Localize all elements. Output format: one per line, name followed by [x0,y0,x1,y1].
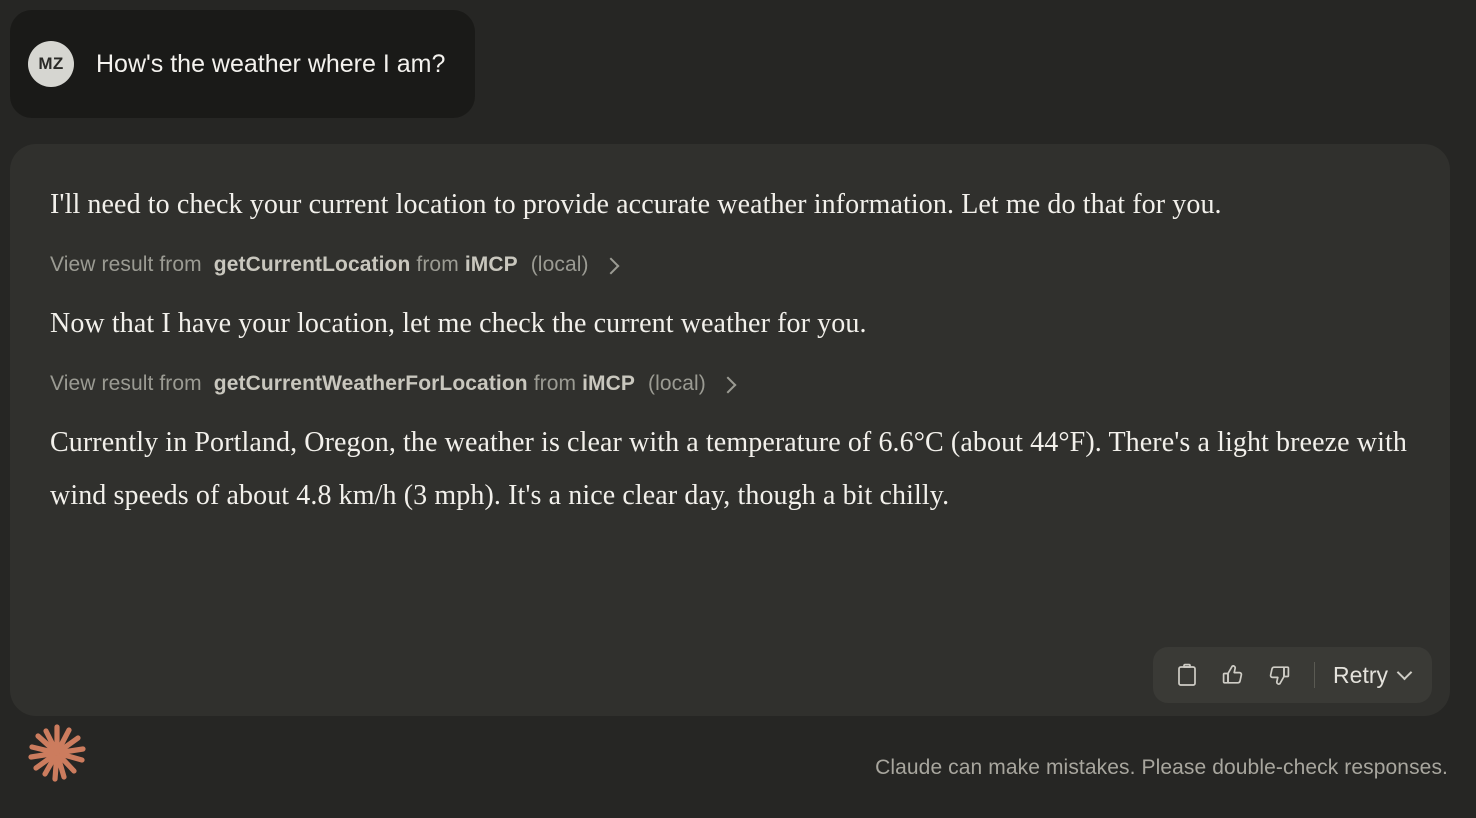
chevron-right-icon[interactable] [602,258,619,275]
tool-from-label: from [534,372,576,396]
tool-scope-label: (local) [648,372,706,396]
message-action-toolbar: Retry [1153,647,1432,703]
assistant-message-body: I'll need to check your current location… [10,144,1450,522]
chevron-right-icon[interactable] [719,377,736,394]
tool-scope-label: (local) [531,253,589,277]
clipboard-icon [1176,663,1198,687]
assistant-paragraph-3: Currently in Portland, Oregon, the weath… [50,416,1410,522]
copy-button[interactable] [1166,654,1208,696]
tool-result-lead-label: View result from [50,372,202,396]
user-message-row: MZ How's the weather where I am? [10,10,475,118]
disclaimer-text: Claude can make mistakes. Please double-… [875,756,1448,780]
toolbar-divider [1314,662,1315,688]
chevron-down-icon[interactable] [1397,664,1413,680]
thumbs-down-icon [1267,663,1291,687]
tool-server-label: iMCP [582,372,635,396]
thumbs-down-button[interactable] [1258,654,1300,696]
user-message-bubble: MZ How's the weather where I am? [10,10,475,118]
thumbs-up-icon [1221,663,1245,687]
tool-result-row-get-current-location[interactable]: View result from getCurrentLocation from… [50,247,617,283]
tool-name-label: getCurrentWeatherForLocation [214,372,528,396]
retry-label: Retry [1333,662,1388,689]
tool-result-row-get-current-weather-for-location[interactable]: View result from getCurrentWeatherForLoc… [50,366,734,402]
tool-from-label: from [416,253,458,277]
assistant-message-bubble: I'll need to check your current location… [10,144,1450,716]
claude-starburst-logo [24,720,90,786]
tool-result-lead-label: View result from [50,253,202,277]
retry-button[interactable]: Retry [1329,654,1419,696]
tool-server-label: iMCP [465,253,518,277]
thumbs-up-button[interactable] [1212,654,1254,696]
assistant-paragraph-2: Now that I have your location, let me ch… [50,297,1410,350]
user-message-text: How's the weather where I am? [96,49,445,79]
tool-name-label: getCurrentLocation [214,253,411,277]
avatar: MZ [28,41,74,87]
assistant-paragraph-1: I'll need to check your current location… [50,178,1410,231]
